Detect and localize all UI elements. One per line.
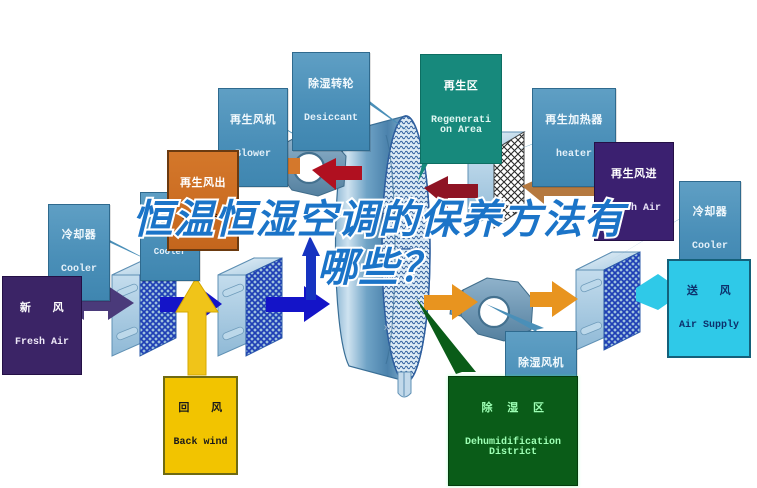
label-cooler-left-cn: 冷却器	[51, 230, 107, 242]
watermark: xin	[384, 322, 396, 332]
label-cooler-left-en: Cooler	[51, 265, 107, 276]
label-regeneration-fresh-air-en: Fresh Air	[597, 204, 671, 215]
label-dehumidification-district-en: Dehumidification District	[451, 438, 575, 459]
label-back-wind-cn: 回 风	[167, 403, 234, 415]
label-regeneration-exhaust-cn: 再生风出	[171, 178, 235, 190]
drain-pan	[398, 372, 411, 397]
label-regeneration-area-cn: 再生区	[423, 81, 499, 93]
label-regeneration-fresh-air-cn: 再生风进	[597, 169, 671, 181]
label-desiccant-rotor-en: Desiccant	[295, 114, 367, 125]
label-air-supply: 送 风 Air Supply	[667, 259, 751, 358]
label-desiccant-rotor-cn: 除湿转轮	[295, 79, 367, 91]
back-wind-arrow	[176, 278, 218, 375]
label-desiccant-rotor: 除湿转轮 Desiccant	[292, 52, 370, 151]
label-regeneration-fresh-air: 再生风进 Fresh Air	[594, 142, 674, 241]
label-cooler-right-cn: 冷却器	[682, 207, 738, 219]
label-back-wind-en: Back wind	[167, 438, 234, 449]
label-regeneration-area-en: Regenerati on Area	[423, 116, 499, 137]
label-regeneration-exhaust-en: Exhaust	[171, 213, 235, 224]
label-regeneration-exhaust: 再生风出 Exhaust	[167, 150, 239, 251]
diagram-graphics: xin	[0, 0, 757, 488]
label-back-wind: 回 风 Back wind	[163, 376, 238, 475]
label-fresh-air-inlet-cn: 新 风	[5, 303, 79, 315]
label-regeneration-area: 再生区 Regenerati on Area	[420, 54, 502, 164]
label-dehumidification-district-cn: 除 湿 区	[451, 403, 575, 415]
label-fresh-air-inlet-en: Fresh Air	[5, 338, 79, 349]
label-regeneration-heater-cn: 再生加热器	[535, 115, 613, 127]
label-dehumidification-district: 除 湿 区 Dehumidification District	[448, 376, 578, 486]
label-air-supply-en: Air Supply	[671, 321, 747, 332]
dehum-blower-out-arrow	[530, 281, 578, 317]
label-regeneration-blower-cn: 再生风机	[221, 115, 285, 127]
cooler-coil-3	[576, 252, 640, 350]
label-dehumidify-blower-cn: 除湿风机	[508, 358, 574, 370]
label-air-supply-cn: 送 风	[671, 286, 747, 298]
desiccant-rotor-wheel	[336, 116, 431, 382]
diagram-canvas: xin 除湿转轮 Desiccant 再生风机 Blower 再生风出 Exha…	[0, 0, 757, 488]
label-fresh-air-inlet: 新 风 Fresh Air	[2, 276, 82, 375]
label-cooler-right-en: Cooler	[682, 242, 738, 253]
